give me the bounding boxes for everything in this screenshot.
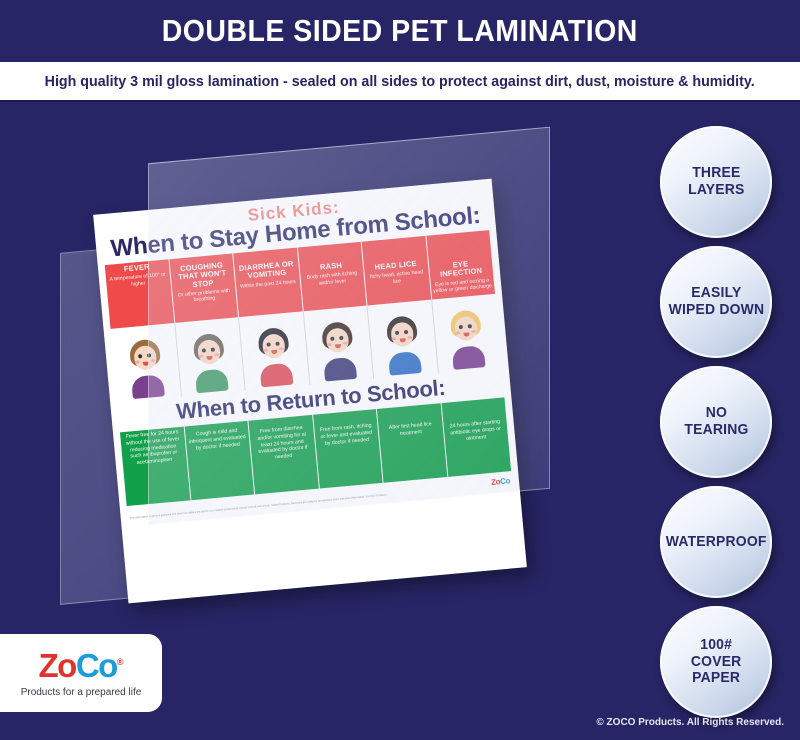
feature-badge-easily-wiped-down: EASILY WIPED DOWN: [660, 246, 772, 358]
brand-tagline: Products for a prepared life: [21, 687, 142, 698]
return-rule-cell: Fever free for 24 hours without the use …: [120, 427, 191, 507]
header-band: DOUBLE SIDED PET LAMINATION: [0, 0, 800, 62]
symptom-subtitle: Eye is red and oozing a yellow or green …: [432, 277, 492, 295]
symptom-cell: DIARRHEA OR VOMITING Within the past 24 …: [233, 248, 303, 318]
symptom-cell: FEVER A temperature of 100° or higher: [105, 259, 175, 329]
child-illustration: [368, 300, 439, 380]
poster-artwork: Sick Kids: When to Stay Home from School…: [93, 179, 527, 604]
return-rule-cell: 24 hours after starting antibiotic eye d…: [441, 398, 511, 477]
symptom-subtitle: Body rash with itching and/or fever: [302, 270, 362, 288]
page-title: DOUBLE SIDED PET LAMINATION: [162, 13, 638, 49]
symptom-cell: HEAD LICE Itchy head, active head lice: [362, 236, 432, 306]
symptom-subtitle: A temperature of 100° or higher: [108, 272, 168, 290]
symptom-cell: COUGHING THAT WON'T STOP Or other proble…: [169, 253, 239, 323]
child-figure-icon: [446, 307, 489, 370]
badge-label: EASILY WIPED DOWN: [668, 285, 764, 319]
brand-logo-card: ZoCo® Products for a prepared life: [0, 634, 162, 712]
feature-badge-list: THREE LAYERS EASILY WIPED DOWN NO TEARIN…: [660, 126, 778, 726]
subtitle-band: High quality 3 mil gloss lamination - se…: [0, 62, 800, 102]
zoco-logo: ZoCo®: [39, 649, 124, 682]
badge-label: 100# COVER PAPER: [691, 637, 742, 687]
symptom-subtitle: Or other problems with breathing: [174, 288, 234, 306]
child-illustration: [111, 323, 182, 403]
symptom-title: COUGHING THAT WON'T STOP: [172, 261, 234, 291]
registered-trademark-icon: ®: [117, 657, 124, 667]
child-figure-icon: [253, 325, 296, 388]
badge-label: WATERPROOF: [666, 534, 767, 551]
return-rule-cell: After first head lice treatment: [377, 403, 448, 483]
subtitle-text: High quality 3 mil gloss lamination - se…: [45, 73, 755, 90]
child-figure-icon: [189, 331, 232, 394]
badge-label: THREE LAYERS: [688, 165, 744, 199]
return-rule-cell: Free from diarrhea and/or vomiting for a…: [248, 415, 319, 495]
feature-badge-cover-paper: 100# COVER PAPER: [660, 606, 772, 718]
badge-label: NO TEARING: [684, 405, 748, 439]
feature-badge-waterproof: WATERPROOF: [660, 486, 772, 598]
feature-badge-no-tearing: NO TEARING: [660, 366, 772, 478]
child-figure-icon: [381, 313, 424, 376]
child-illustration: [432, 294, 502, 373]
child-illustration: [303, 306, 374, 386]
symptom-subtitle: Itchy head, active head lice: [367, 269, 427, 287]
return-rule-cell: Free from rash, itching or fever and eva…: [313, 409, 384, 489]
child-figure-icon: [317, 319, 360, 382]
symptom-cell: EYE INFECTION Eye is red and oozing a ye…: [426, 230, 495, 300]
child-illustration: [175, 317, 246, 397]
child-illustration: [239, 312, 310, 392]
poster-logo: ZoCo: [491, 477, 511, 488]
copyright-text: © ZOCO Products. All Rights Reserved.: [596, 717, 784, 728]
child-figure-icon: [124, 336, 167, 399]
symptom-cell: RASH Body rash with itching and/or fever: [297, 242, 367, 312]
promo-image: DOUBLE SIDED PET LAMINATION High quality…: [0, 0, 800, 740]
return-rule-cell: Cough is mild and infrequent and evaluat…: [184, 421, 255, 501]
feature-badge-three-layers: THREE LAYERS: [660, 126, 772, 238]
